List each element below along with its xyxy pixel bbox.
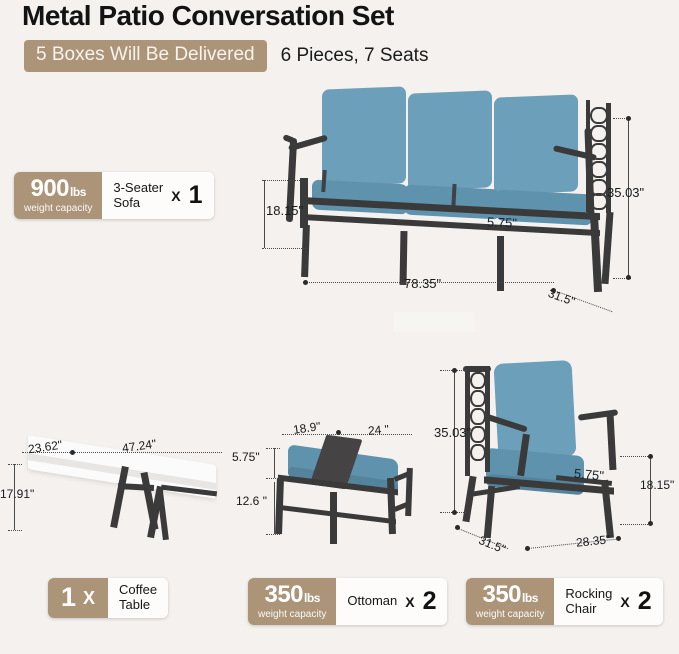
ottoman-dim-cap-mid xyxy=(336,430,341,435)
ottoman-capacity-unit: lbs xyxy=(304,591,320,605)
sofa-seat-height-tick-top xyxy=(262,180,302,181)
chair-width-cap-right xyxy=(616,536,621,541)
ottoman-quantity: 2 xyxy=(423,589,437,614)
ottoman-width-label: 24 " xyxy=(367,422,389,438)
sofa-seat-height-line xyxy=(264,180,265,248)
page-title: Metal Patio Conversation Set xyxy=(22,0,394,32)
chair-name-block: Rocking Chair X 2 xyxy=(554,578,662,625)
chair-quantity: 2 xyxy=(638,589,652,614)
chair-weight-capacity: 350lbs weight capacity xyxy=(466,578,554,625)
coffee-table-name-block: Coffee Table xyxy=(108,578,168,618)
ottoman-name: Ottoman xyxy=(347,594,397,609)
chair-lattice-panel xyxy=(470,372,486,470)
sofa-seat-height-tick-bottom xyxy=(262,248,306,249)
chair-seat-height-cap-top xyxy=(648,454,653,459)
chair-back-height-cap-bottom xyxy=(452,510,457,515)
ottoman-cushion-thickness-line xyxy=(274,448,275,478)
sofa-seat-height-label: 18.15" xyxy=(266,203,303,218)
ottoman-cushion-tick-top xyxy=(266,448,280,449)
ottoman-frame-height-line xyxy=(274,482,275,534)
coffee-table-quantity: 1 xyxy=(61,584,76,611)
chair-arm-right-post xyxy=(607,414,617,470)
chair-depth-label: 31.5" xyxy=(477,533,508,556)
ottoman-frame-tick-bottom xyxy=(266,534,280,535)
ottoman-capacity-badge: 350lbs weight capacity Ottoman X 2 xyxy=(248,578,447,625)
sofa-back-height-label: 35.03" xyxy=(607,185,644,200)
coffee-table-dim-cap-mid xyxy=(70,450,75,455)
sofa-arm-left-scroll xyxy=(282,134,295,144)
sofa-back-height-cap-bottom xyxy=(626,275,631,280)
coffee-table-height-tick-bottom xyxy=(8,530,22,531)
sofa-capacity-unit: lbs xyxy=(70,185,86,199)
header-subrow: 5 Boxes Will Be Delivered 6 Pieces, 7 Se… xyxy=(24,40,428,72)
chair-capacity-caption: weight capacity xyxy=(476,610,544,620)
coffee-table-count-block: 1 X xyxy=(48,578,108,618)
coffee-table-badge: 1 X Coffee Table xyxy=(48,578,168,618)
sofa-cushion-thickness-label: 5.75" xyxy=(487,214,518,231)
sofa-back-height-cap-top xyxy=(626,116,631,121)
sofa-back-cushion-center xyxy=(408,90,492,190)
chair-multiplier: X xyxy=(620,594,629,610)
sofa-capacity-badge: 900lbs weight capacity 3-Seater Sofa X 1 xyxy=(14,172,214,219)
pieces-seats-label: 6 Pieces, 7 Seats xyxy=(281,45,429,67)
sofa-leg-front-right xyxy=(590,214,602,292)
chair-back-top-rail xyxy=(463,366,491,372)
chair-cushion-thickness-label: 5.75" xyxy=(573,466,604,484)
chair-back-height-cap-top xyxy=(452,368,457,373)
chair-capacity-number: 350 xyxy=(482,581,521,608)
sofa-leg-front-left xyxy=(301,225,310,277)
chair-back-height-label: 35.03" xyxy=(434,425,471,440)
coffee-table-leg-mid2 xyxy=(157,492,169,540)
chair-back-height-line xyxy=(454,370,455,512)
chair-capacity-unit: lbs xyxy=(522,591,538,605)
chair-back-cushion xyxy=(494,360,577,460)
sofa-back-cushion-left xyxy=(322,86,406,186)
sofa-width-label: 78.35" xyxy=(404,276,441,291)
ottoman-name-block: Ottoman X 2 xyxy=(336,578,447,625)
chair-seat-height-label: 18.15" xyxy=(640,478,674,492)
background-watermark xyxy=(393,312,475,332)
sofa-width-cap-left xyxy=(303,280,308,285)
sofa-weight-capacity: 900lbs weight capacity xyxy=(14,172,102,219)
ottoman-cushion-tick-bottom xyxy=(266,478,280,479)
chair-name: Rocking Chair xyxy=(565,587,612,617)
sofa-capacity-caption: weight capacity xyxy=(24,204,92,214)
chair-seat-height-cap-bottom xyxy=(648,521,653,526)
ottoman-lower-rail xyxy=(278,505,396,524)
ottoman-multiplier: X xyxy=(405,594,414,610)
sofa-capacity-number: 900 xyxy=(30,175,69,202)
sofa-multiplier: X xyxy=(171,188,180,204)
infographic-canvas: Metal Patio Conversation Set 5 Boxes Wil… xyxy=(0,0,679,654)
chair-depth-cap xyxy=(455,525,460,530)
coffee-table-name: Coffee Table xyxy=(119,583,157,613)
chair-width-label: 28.35" xyxy=(575,532,611,550)
chair-width-cap-left xyxy=(525,546,530,551)
ottoman-capacity-number: 350 xyxy=(264,581,303,608)
sofa-name-block: 3-Seater Sofa X 1 xyxy=(102,172,213,219)
sofa-depth-label: 31.5" xyxy=(546,286,577,309)
ottoman-leg-front-mid xyxy=(330,492,337,544)
chair-back-post-left xyxy=(465,368,470,476)
sofa-back-post-inner xyxy=(586,100,590,212)
coffee-table-height-tick-top xyxy=(8,464,22,465)
ottoman-capacity-caption: weight capacity xyxy=(258,610,326,620)
ottoman-frame-height-label: 12.6 " xyxy=(236,494,267,508)
coffee-table-multiplier: X xyxy=(83,589,95,607)
boxes-delivered-badge: 5 Boxes Will Be Delivered xyxy=(24,40,267,72)
sofa-seat-cushion-left xyxy=(312,179,408,214)
rocking-chair-capacity-badge: 350lbs weight capacity Rocking Chair X 2 xyxy=(466,578,663,625)
chair-leg-back-left xyxy=(462,476,476,523)
sofa-name: 3-Seater Sofa xyxy=(113,181,163,211)
ottoman-cushion-thickness-label: 5.75" xyxy=(232,450,260,464)
sofa-leg-back-right xyxy=(601,212,613,284)
coffee-table-height-label: 17.91" xyxy=(0,487,34,501)
sofa-back-cushion-right xyxy=(494,94,578,194)
ottoman-weight-capacity: 350lbs weight capacity xyxy=(248,578,336,625)
sofa-quantity: 1 xyxy=(189,183,203,208)
